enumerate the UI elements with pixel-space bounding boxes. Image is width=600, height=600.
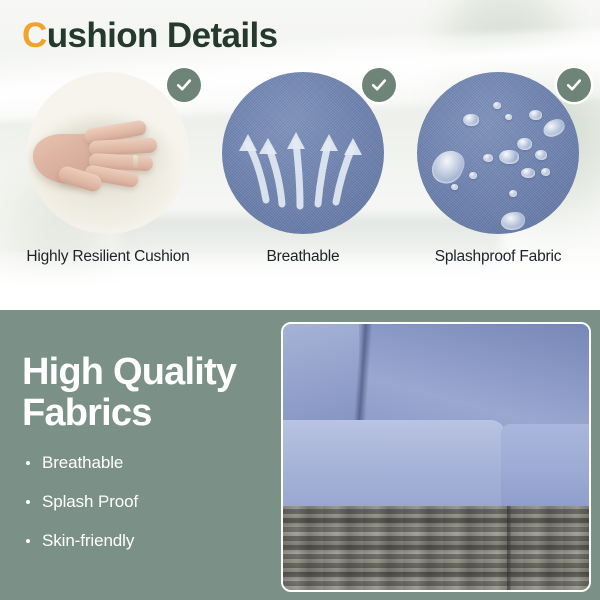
check-icon [369,75,389,95]
wicker-sofa-photo [281,322,591,592]
bullet-label: Splash Proof [42,492,138,512]
feature-image-wrap [222,72,384,234]
feature-bullet-list: Breathable Splash Proof Skin-friendly [26,453,138,570]
sofa-photo-content [283,324,589,590]
bullet-dot-icon [26,500,30,504]
ring-icon [133,155,138,168]
hand-pressing-memory-foam-image [27,72,189,234]
rattan-section-gap [507,506,511,590]
bullet-dot-icon [26,539,30,543]
high-quality-fabrics-section: High Quality Fabrics Breathable Splash P… [0,310,600,600]
water-droplet [499,150,519,164]
list-item: Splash Proof [26,492,138,512]
page-title-accent-letter: C [22,16,47,55]
feature-label: Breathable [203,248,403,266]
sofa-seat-cushion-right [501,424,591,506]
water-droplet [469,172,477,179]
check-icon [174,75,194,95]
section-heading: High Quality Fabrics [22,352,236,433]
bullet-dot-icon [26,461,30,465]
water-droplet [541,168,550,176]
check-badge [557,68,591,102]
check-badge [362,68,396,102]
section-heading-line2: Fabrics [22,393,236,434]
water-droplet [509,190,517,197]
rattan-weave-texture [283,506,589,590]
page-title-rest: ushion Details [47,16,278,55]
page-title: Cushion Details [22,16,278,56]
feature-item-breathable: Breathable [203,72,403,266]
hand-illustration [33,124,165,186]
water-splash [428,146,469,189]
blue-fabric-water-droplets-image [417,72,579,234]
water-splash [541,117,567,139]
airflow-arrows-icon [222,72,384,234]
check-badge [167,68,201,102]
section-heading-line1: High Quality [22,352,236,393]
water-droplet [529,110,542,120]
water-droplet [493,102,501,109]
water-droplet [451,184,458,190]
sofa-seat-cushion-left [283,420,505,506]
cushion-details-infographic: Cushion Details [0,0,600,600]
water-splash [501,212,525,230]
sofa-back-cushion-right [359,324,589,424]
blue-fabric-airflow-arrows-image [222,72,384,234]
feature-label: Highly Resilient Cushion [8,248,208,266]
list-item: Breathable [26,453,138,473]
cushion-details-section: Cushion Details [0,0,600,310]
sofa-rattan-base [283,506,589,590]
feature-image-wrap [27,72,189,234]
check-icon [564,75,584,95]
list-item: Skin-friendly [26,531,138,551]
water-droplet [517,138,532,150]
bullet-label: Skin-friendly [42,531,134,551]
feature-label: Splashproof Fabric [398,248,598,266]
feature-image-wrap [417,72,579,234]
feature-item-highly-resilient-cushion: Highly Resilient Cushion [8,72,208,266]
feature-item-splashproof-fabric: Splashproof Fabric [398,72,598,266]
bullet-label: Breathable [42,453,123,473]
water-droplet [505,114,512,120]
water-droplet [463,114,479,126]
water-droplet [521,168,535,178]
water-droplet [483,154,493,162]
water-droplet [535,150,547,160]
